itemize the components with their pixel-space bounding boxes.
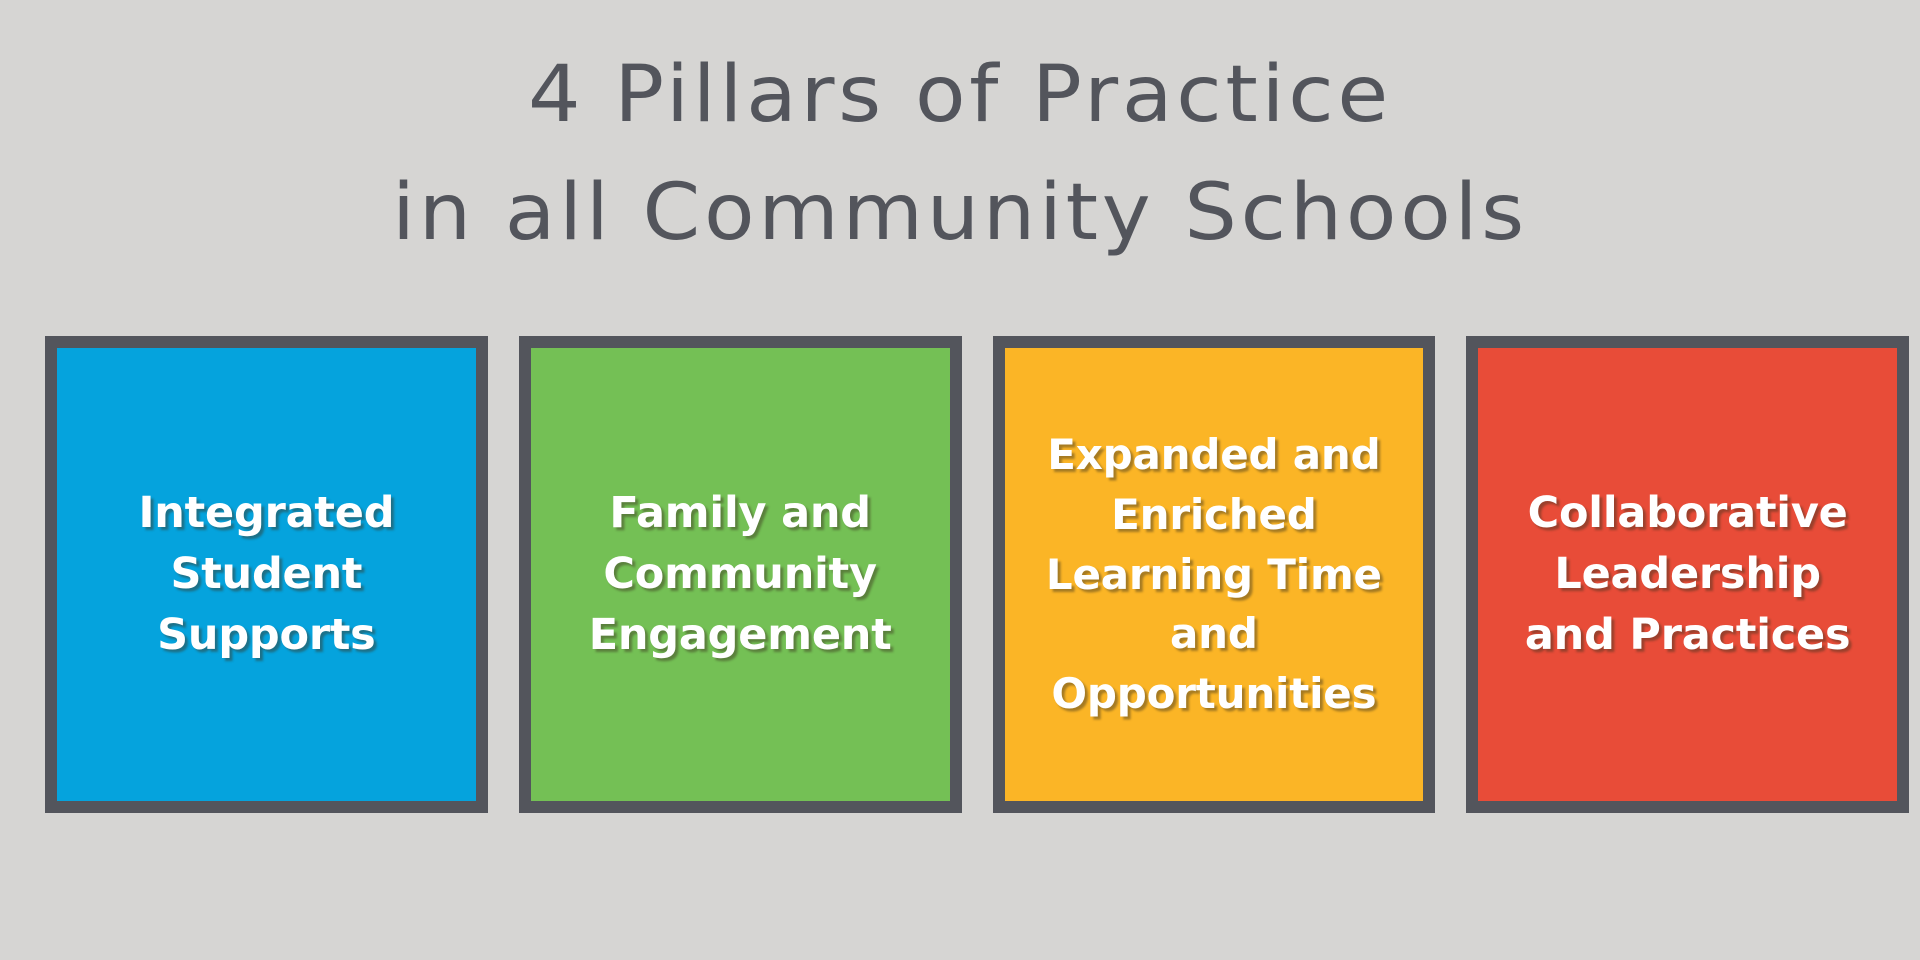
pillar-label: Collaborative Leadership and Practices	[1492, 483, 1883, 666]
pillar-card-collaborative-leadership-and-practices: Collaborative Leadership and Practices	[1466, 336, 1909, 813]
pillars-row: Integrated Student Supports Family and C…	[45, 336, 1909, 813]
title-line-2: in all Community Schools	[0, 154, 1920, 272]
pillar-card-integrated-student-supports: Integrated Student Supports	[45, 336, 488, 813]
pillar-label: Integrated Student Supports	[71, 483, 462, 666]
pillar-card-expanded-and-enriched-learning-time: Expanded and Enriched Learning Time and …	[993, 336, 1436, 813]
pillar-label: Expanded and Enriched Learning Time and …	[1019, 425, 1410, 723]
pillar-label: Family and Community Engagement	[545, 483, 936, 666]
page-title: 4 Pillars of Practice in all Community S…	[0, 36, 1920, 272]
pillar-card-family-and-community-engagement: Family and Community Engagement	[519, 336, 962, 813]
pillars-infographic: 4 Pillars of Practice in all Community S…	[0, 0, 1920, 960]
title-line-1: 4 Pillars of Practice	[0, 36, 1920, 154]
